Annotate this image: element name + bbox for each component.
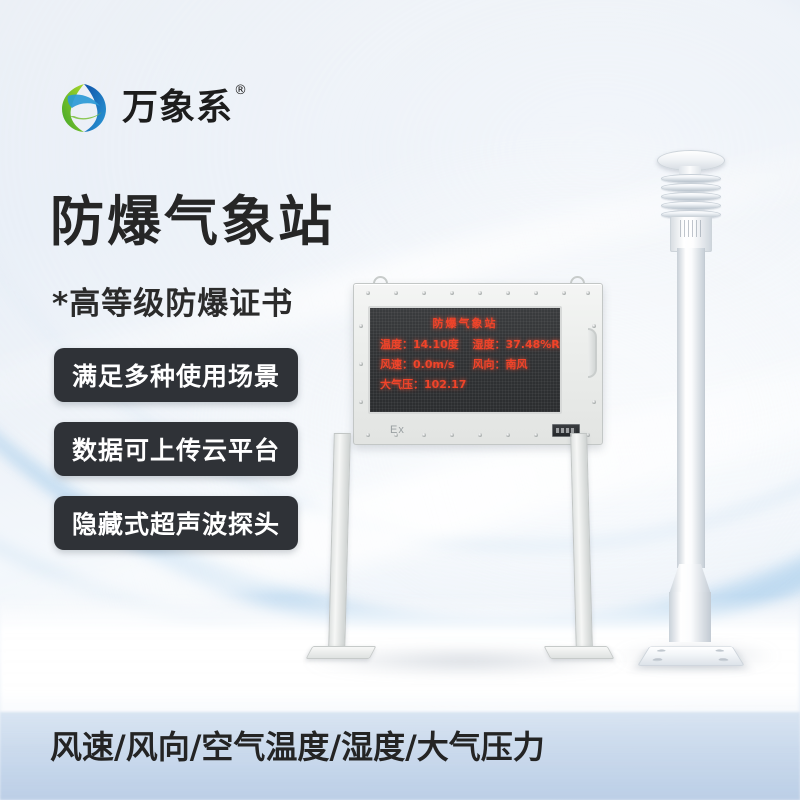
brand-name: 万象系 ® <box>122 90 233 126</box>
feature-caption: 风速/风向/空气温度/湿度/大气压力 <box>50 722 545 768</box>
feature-badge-2: 数据可上传云平台 <box>54 422 298 476</box>
mounting-pole-icon <box>677 248 705 568</box>
led-matrix: 防爆气象站 温度：14.10度 湿度：37.48%RH 风速：0.0m/s 风向… <box>370 308 560 412</box>
support-leg-right <box>570 433 593 650</box>
pole-lower-section <box>669 592 711 642</box>
feature-badge-1: 满足多种使用场景 <box>54 348 298 402</box>
globe-swirl-logo-icon <box>58 82 110 134</box>
reading-humidity: 湿度：37.48%RH <box>472 336 562 352</box>
brand-logo: 万象系 ® <box>58 82 233 134</box>
sensor-body <box>670 216 712 252</box>
pole-flare <box>669 564 711 594</box>
led-screen: 防爆气象站 温度：14.10度 湿度：37.48%RH 风速：0.0m/s 风向… <box>368 306 562 414</box>
support-leg-left <box>328 433 351 650</box>
brand-name-text: 万象系 <box>122 87 233 128</box>
led-screen-title: 防爆气象站 <box>376 315 554 331</box>
reading-air-pressure: 大气压：102.17 <box>380 376 466 392</box>
page-subtitle: *高等级防爆证书 <box>52 278 293 323</box>
page-title: 防爆气象站 <box>50 192 335 251</box>
product-pole-sensor <box>630 150 750 670</box>
ex-marking-label: Ex <box>390 424 405 436</box>
door-handle-icon[interactable] <box>585 328 596 374</box>
base-foot-left <box>306 646 377 659</box>
feature-list: 满足多种使用场景 数据可上传云平台 隐藏式超声波探头 <box>54 348 298 550</box>
explosion-proof-enclosure: 防爆气象站 温度：14.10度 湿度：37.48%RH 风速：0.0m/s 风向… <box>353 283 603 445</box>
reading-temperature: 温度：14.10度 <box>380 336 466 352</box>
base-flange-icon <box>637 647 745 666</box>
radiation-shield-louvers-icon <box>661 174 719 218</box>
feature-badge-3: 隐藏式超声波探头 <box>54 496 298 550</box>
registered-trademark-icon: ® <box>234 84 248 97</box>
reading-wind-speed: 风速：0.0m/s <box>380 356 466 372</box>
base-foot-right <box>544 646 615 659</box>
led-readings: 温度：14.10度 湿度：37.48%RH 风速：0.0m/s 风向：南风 大气… <box>376 336 554 392</box>
product-poster: 万象系 ® 防爆气象站 *高等级防爆证书 满足多种使用场景 数据可上传云平台 隐… <box>0 0 800 800</box>
reading-wind-direction: 风向：南风 <box>472 356 562 372</box>
product-display-station: 防爆气象站 温度：14.10度 湿度：37.48%RH 风速：0.0m/s 风向… <box>325 283 600 673</box>
